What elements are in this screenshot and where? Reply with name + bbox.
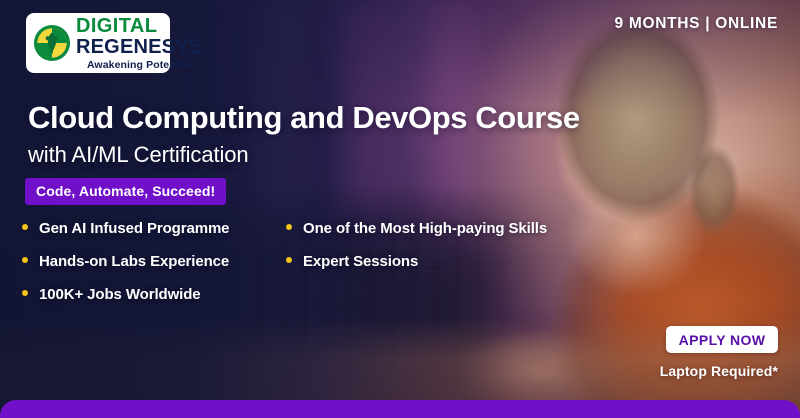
bullet-dot-icon [286, 224, 292, 230]
course-duration-mode: 9 MONTHS | ONLINE [615, 15, 779, 33]
list-item: Hands-on Labs Experience [22, 253, 286, 270]
brand-logo[interactable]: DIGITAL REGENESYS Awakening Potential [26, 13, 170, 73]
page-title: Cloud Computing and DevOps Course [28, 100, 580, 136]
feature-label: Hands-on Labs Experience [39, 253, 229, 270]
bullet-dot-icon [22, 257, 28, 263]
bullet-dot-icon [22, 224, 28, 230]
logo-tagline-text: Awakening Potential [76, 60, 202, 71]
feature-list: Gen AI Infused Programme Hands-on Labs E… [22, 220, 547, 319]
apply-now-button[interactable]: APPLY NOW [666, 326, 778, 353]
bullet-dot-icon [286, 257, 292, 263]
feature-column-right: One of the Most High-paying Skills Exper… [286, 220, 547, 319]
feature-label: Expert Sessions [303, 253, 418, 270]
feature-column-left: Gen AI Infused Programme Hands-on Labs E… [22, 220, 286, 319]
list-item: Expert Sessions [286, 253, 547, 270]
logo-secondary-text: REGENESYS [76, 37, 202, 57]
requirement-note: Laptop Required* [660, 363, 778, 379]
page-subtitle: with AI/ML Certification [28, 142, 249, 168]
tagline-badge: Code, Automate, Succeed! [25, 178, 226, 205]
list-item: One of the Most High-paying Skills [286, 220, 547, 237]
brand-wordmark: DIGITAL REGENESYS Awakening Potential [76, 16, 202, 71]
course-promo-banner: DIGITAL REGENESYS Awakening Potential 9 … [0, 0, 800, 418]
feature-label: 100K+ Jobs Worldwide [39, 286, 201, 303]
feature-label: One of the Most High-paying Skills [303, 220, 547, 237]
list-item: 100K+ Jobs Worldwide [22, 286, 286, 303]
bottom-accent-bar [0, 400, 800, 418]
bullet-dot-icon [22, 290, 28, 296]
list-item: Gen AI Infused Programme [22, 220, 286, 237]
feature-label: Gen AI Infused Programme [39, 220, 229, 237]
logo-primary-text: DIGITAL [76, 16, 202, 36]
tree-shield-emblem-icon [33, 24, 71, 62]
